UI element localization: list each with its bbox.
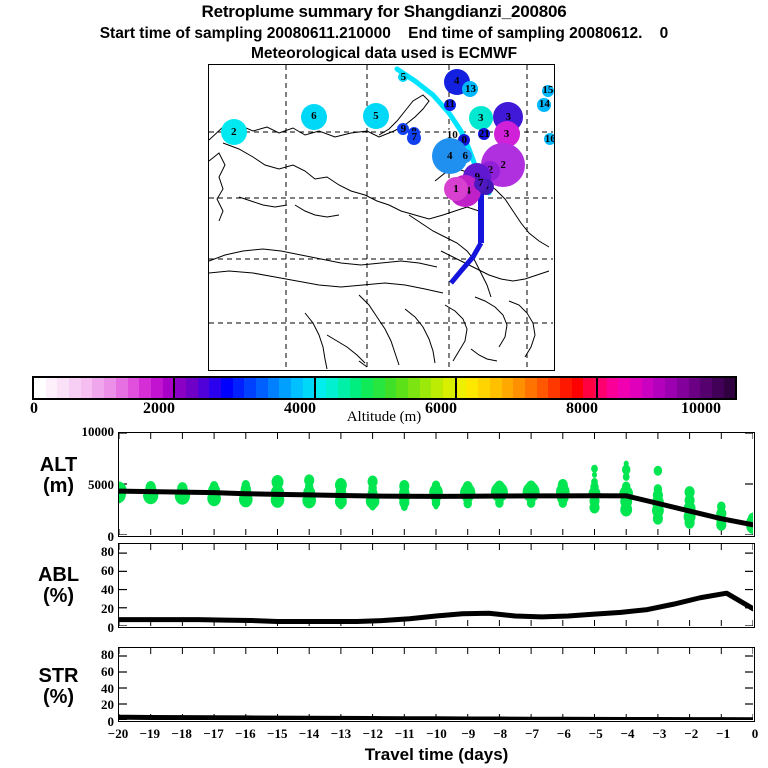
map-marker[interactable]: 14 [537, 98, 551, 112]
alt-ytick-label: 5000 [54, 477, 114, 493]
colorbar-swatch [256, 378, 268, 398]
colorbar-swatch [537, 378, 549, 398]
map-marker[interactable]: 7 [474, 177, 488, 191]
colorbar-swatch [525, 378, 537, 398]
colorbar-swatch [338, 378, 350, 398]
alt-scatter-point [178, 494, 187, 504]
header: Retroplume summary for Shangdianzi_20080… [0, 0, 768, 63]
str-ytick-label: 60 [54, 664, 114, 680]
map-marker[interactable]: 16 [544, 133, 555, 145]
alt-scatter-point [559, 498, 568, 508]
colorbar-swatch [642, 378, 654, 398]
colorbar-swatch [57, 378, 69, 398]
map-marker-label: 7 [412, 132, 418, 143]
map-marker[interactable]: 6 [458, 149, 472, 163]
map-marker-label: 6 [311, 111, 317, 122]
alt-scatter-point [433, 503, 438, 509]
colorbar-swatch [104, 378, 116, 398]
colorbar-swatch [326, 378, 338, 398]
retroplume-map[interactable]: 265987541333111002131514164622914147 [208, 64, 555, 371]
x-tick-label: −9 [451, 726, 485, 742]
colorbar-swatch [513, 378, 525, 398]
map-marker-label: 3 [478, 113, 484, 124]
colorbar-swatch [724, 378, 736, 398]
alt-scatter-point [653, 513, 663, 525]
met-data-note: Meteorological data used is ECMWF [0, 45, 768, 63]
colorbar-swatch [69, 378, 81, 398]
alt-plot-graphics [119, 433, 753, 535]
abl-plot-graphics [119, 544, 753, 626]
x-tick-label: −13 [324, 726, 358, 742]
map-marker-label: 5 [373, 111, 379, 122]
alt-scatter-point [527, 498, 536, 508]
map-marker-label: 2 [500, 160, 506, 171]
colorbar-swatch [186, 378, 198, 398]
colorbar-swatch [303, 378, 315, 398]
x-tick-label: −4 [611, 726, 645, 742]
map-marker-label: 11 [445, 99, 455, 110]
colorbar-swatch [420, 378, 432, 398]
colorbar-swatch [408, 378, 420, 398]
colorbar-swatch [490, 378, 502, 398]
colorbar-swatch [315, 378, 327, 398]
colorbar-swatch [350, 378, 362, 398]
colorbar-swatch [279, 378, 291, 398]
x-tick-label: −10 [420, 726, 454, 742]
x-tick-label: −6 [547, 726, 581, 742]
colorbar-swatch [478, 378, 490, 398]
colorbar-swatch [689, 378, 701, 398]
colorbar-swatch [583, 378, 595, 398]
colorbar-divider [596, 376, 598, 400]
colorbar-swatch [233, 378, 245, 398]
map-marker[interactable]: 21 [478, 128, 490, 140]
alt-scatter-point [591, 465, 598, 473]
map-marker-label: 5 [401, 72, 407, 83]
map-marker-label: 7 [478, 178, 484, 189]
colorbar-swatch [560, 378, 572, 398]
alt-axis-label-line1: ALT [6, 455, 111, 476]
str-plot-graphics [119, 648, 753, 720]
page-title: Retroplume summary for Shangdianzi_20080… [0, 2, 768, 22]
alt-panel[interactable] [118, 432, 755, 537]
map-marker-label: 3 [504, 129, 510, 140]
colorbar-swatch [361, 378, 373, 398]
map-marker[interactable]: 1 [444, 177, 468, 201]
colorbar-swatch [34, 378, 46, 398]
str-ytick-label: 20 [54, 697, 114, 713]
abl-ytick-label: 60 [54, 563, 114, 579]
x-tick-label: −15 [260, 726, 294, 742]
map-marker[interactable]: 5 [363, 103, 389, 129]
x-tick-label: 0 [738, 726, 768, 742]
x-tick-label: −11 [388, 726, 422, 742]
abl-ytick-label: 80 [54, 544, 114, 560]
map-marker[interactable]: 13 [462, 81, 478, 97]
colorbar-swatch [244, 378, 256, 398]
colorbar-swatch [466, 378, 478, 398]
map-marker-label: 6 [463, 151, 469, 162]
colorbar-swatch [572, 378, 584, 398]
colorbar-swatch [373, 378, 385, 398]
alt-scatter-point [623, 473, 630, 481]
str-ytick-label: 40 [54, 681, 114, 697]
colorbar-swatch [174, 378, 186, 398]
map-marker[interactable]: 2 [221, 119, 247, 145]
alt-scatter-point [463, 498, 472, 508]
x-tick-label: −5 [579, 726, 613, 742]
colorbar-swatch [151, 378, 163, 398]
map-marker[interactable]: 6 [301, 104, 327, 130]
x-tick-label: −12 [356, 726, 390, 742]
x-tick-label: −18 [165, 726, 199, 742]
x-tick-label: −8 [483, 726, 517, 742]
alt-scatter-point [369, 502, 376, 510]
str-line [119, 717, 753, 720]
colorbar-divider [314, 376, 316, 400]
x-tick-label: −16 [228, 726, 262, 742]
alt-scatter-point [685, 517, 695, 529]
alt-ytick-label: 0 [54, 529, 114, 545]
colorbar-swatch [665, 378, 677, 398]
abl-panel[interactable] [118, 543, 755, 628]
x-tick-label: −19 [133, 726, 167, 742]
map-marker-label: 14 [539, 99, 550, 110]
abl-ytick-label: 20 [54, 601, 114, 617]
alt-scatter-point [654, 466, 663, 476]
x-tick-label: −3 [642, 726, 676, 742]
x-tick-label: −7 [515, 726, 549, 742]
abl-ytick-label: 0 [54, 620, 114, 636]
colorbar-swatch [653, 378, 665, 398]
alt-scatter-point [620, 503, 632, 517]
map-marker-label: 16 [545, 134, 555, 145]
colorbar-swatch [268, 378, 280, 398]
map-marker-label: 9 [401, 124, 407, 135]
colorbar-swatch [139, 378, 151, 398]
alt-scatter-point [146, 493, 155, 503]
colorbar-swatch [198, 378, 210, 398]
x-tick-label: −2 [674, 726, 708, 742]
map-marker[interactable]: 7 [407, 131, 421, 145]
x-tick-label: −1 [706, 726, 740, 742]
colorbar-swatch [502, 378, 514, 398]
colorbar-swatch [396, 378, 408, 398]
altitude-colorbar [32, 376, 737, 400]
colorbar-swatch [291, 378, 303, 398]
map-marker-label: 4 [447, 151, 453, 162]
colorbar-swatch [46, 378, 58, 398]
colorbar-axis-label: Altitude (m) [0, 409, 768, 426]
map-marker-label: 21 [479, 129, 490, 140]
colorbar-swatch [700, 378, 712, 398]
alt-ytick-label: 10000 [54, 424, 114, 440]
str-panel[interactable] [118, 647, 755, 722]
map-marker-label: 4 [454, 76, 460, 87]
colorbar-swatch [712, 378, 724, 398]
xaxis-label: Travel time (days) [118, 745, 755, 765]
x-tick-label: −20 [101, 726, 135, 742]
alt-scatter-point [589, 501, 599, 513]
map-marker[interactable]: 3 [469, 106, 493, 130]
colorbar-swatch [618, 378, 630, 398]
abl-line [119, 593, 753, 621]
x-tick-label: −14 [292, 726, 326, 742]
colorbar-swatch [92, 378, 104, 398]
str-ytick-label: 80 [54, 647, 114, 663]
map-marker[interactable]: 15 [542, 85, 554, 97]
colorbar-swatch [677, 378, 689, 398]
map-marker-label: 2 [231, 127, 237, 138]
alt-scatter-point [338, 501, 345, 509]
colorbar-swatch [209, 378, 221, 398]
alt-scatter-point [592, 472, 597, 478]
colorbar-swatch [81, 378, 93, 398]
colorbar-swatch [607, 378, 619, 398]
colorbar-divider [455, 376, 457, 400]
map-marker[interactable]: 5 [398, 72, 408, 82]
colorbar-swatch [116, 378, 128, 398]
map-marker-label: 15 [542, 85, 553, 96]
x-tick-label: −17 [197, 726, 231, 742]
abl-ytick-label: 40 [54, 582, 114, 598]
colorbar-swatch [431, 378, 443, 398]
colorbar-swatch [443, 378, 455, 398]
colorbar-gradient [32, 376, 737, 400]
colorbar-swatch [548, 378, 560, 398]
map-marker-label: 13 [465, 84, 476, 95]
map-marker-label: 1 [453, 184, 459, 195]
colorbar-swatch [221, 378, 233, 398]
alt-scatter-point [495, 498, 504, 508]
map-marker[interactable]: 11 [444, 99, 456, 111]
alt-scatter-point [401, 503, 408, 511]
colorbar-divider [173, 376, 175, 400]
colorbar-swatch [385, 378, 397, 398]
sampling-times: Start time of sampling 20080611.210000 E… [0, 25, 768, 43]
colorbar-swatch [128, 378, 140, 398]
colorbar-swatch [630, 378, 642, 398]
